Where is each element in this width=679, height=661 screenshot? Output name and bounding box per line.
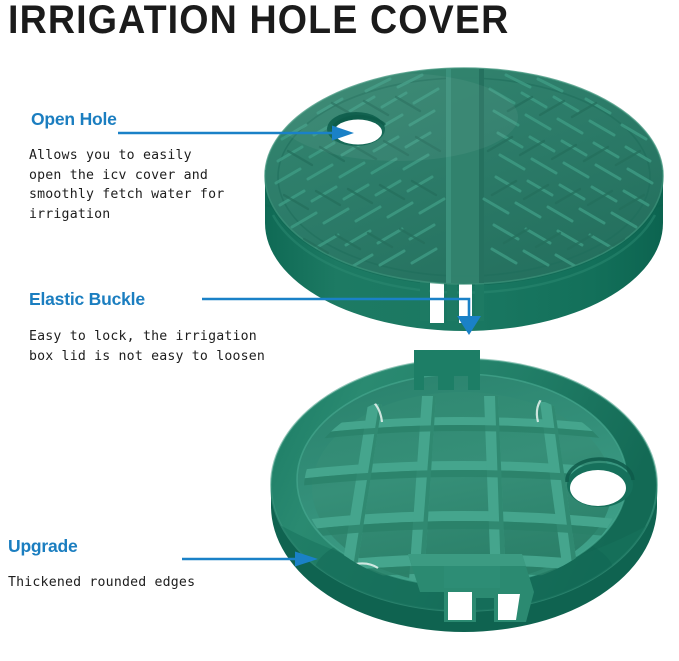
- pointer-arrow-upgrade: [182, 550, 322, 570]
- callout-heading-open-hole: Open Hole: [31, 109, 117, 130]
- buckle-slot-top: [414, 350, 480, 390]
- callout-heading-elastic-buckle: Elastic Buckle: [29, 289, 145, 310]
- pointer-arrow-elastic-buckle: [200, 290, 490, 340]
- callout-body-upgrade: Thickened rounded edges: [8, 573, 308, 593]
- callout-heading-upgrade: Upgrade: [8, 536, 78, 557]
- open-hole-bottom: [567, 459, 633, 507]
- pointer-arrow-open-hole: [118, 124, 358, 144]
- page-title: IRRIGATION HOLE COVER: [8, 0, 509, 43]
- infographic-page: IRRIGATION HOLE COVER: [0, 0, 679, 661]
- irrigation-cover-lid-underside: [248, 330, 679, 650]
- callout-body-open-hole: Allows you to easily open the icv cover …: [29, 146, 299, 224]
